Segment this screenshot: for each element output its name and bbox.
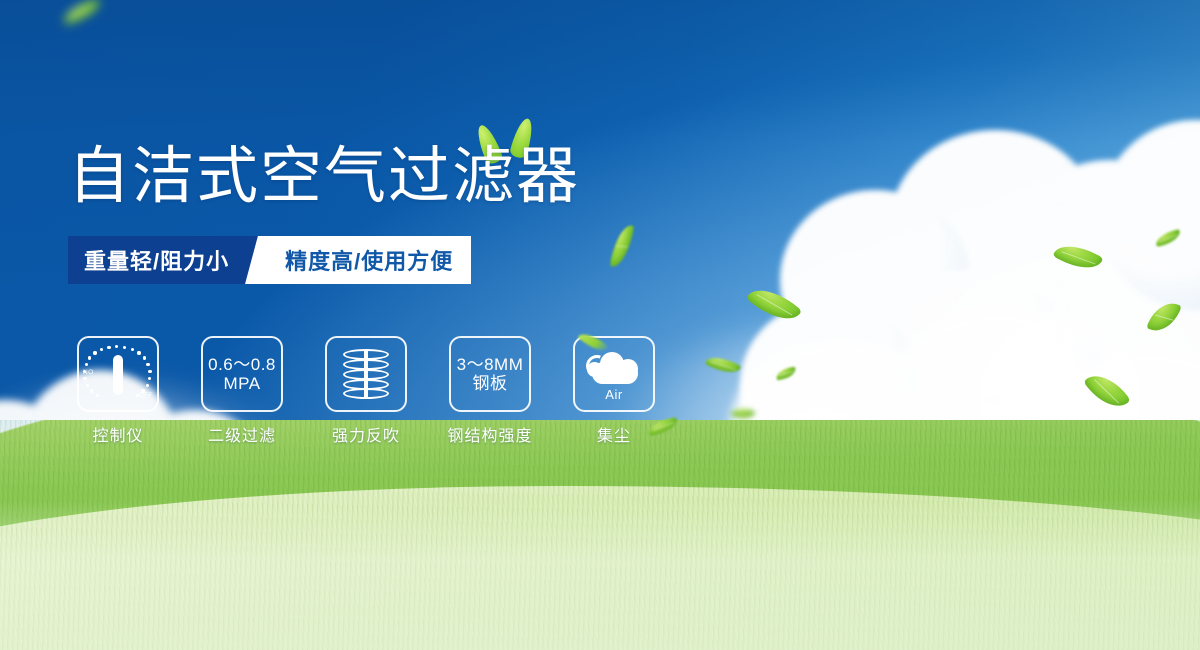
feature-label: 强力反吹 <box>332 422 400 446</box>
coil-icon <box>341 347 391 401</box>
subtitle-bar: 重量轻/阻力小 精度高/使用方便 <box>68 236 471 284</box>
grass-highlight <box>0 500 1200 650</box>
feature-item-steel[interactable]: 3～8MM 钢板 钢结构强度 <box>448 336 532 446</box>
feature-list: NO OFF 控制仪 0.6～0.8 MPA 二级过滤 <box>76 336 656 446</box>
grass-field <box>0 420 1200 650</box>
feature-icon-box: 0.6～0.8 MPA <box>201 336 283 412</box>
gauge-icon: NO OFF <box>84 343 152 405</box>
feature-label: 钢结构强度 <box>448 422 533 446</box>
feature-icon-box <box>325 336 407 412</box>
subtitle-divider <box>243 236 279 284</box>
gauge-needle <box>113 355 123 395</box>
feature-icon-box: NO OFF <box>77 336 159 412</box>
steel-plate-text-icon: 3～8MM 钢板 <box>457 355 524 393</box>
cloud-air-icon: Air <box>584 346 644 402</box>
feature-icon-box: Air <box>573 336 655 412</box>
subtitle-primary: 重量轻/阻力小 <box>68 236 243 284</box>
feature-label: 集尘 <box>597 422 631 446</box>
air-label: Air <box>584 387 644 402</box>
gauge-label-no: NO <box>83 369 94 376</box>
feature-icon-box: 3～8MM 钢板 <box>449 336 531 412</box>
pressure-unit: MPA <box>208 374 276 393</box>
hero-banner: 自洁式空气过滤器 重量轻/阻力小 精度高/使用方便 <box>0 0 1200 650</box>
page-title: 自洁式空气过滤器 <box>68 146 580 208</box>
feature-label: 二级过滤 <box>208 422 276 446</box>
pressure-range: 0.6～0.8 <box>208 355 276 374</box>
feature-item-backblow[interactable]: 强力反吹 <box>324 336 408 446</box>
steel-material: 钢板 <box>457 374 524 393</box>
feature-item-controller[interactable]: NO OFF 控制仪 <box>76 336 160 446</box>
steel-thickness: 3～8MM <box>457 355 524 374</box>
feature-label: 控制仪 <box>92 422 143 446</box>
feature-item-dustcollection[interactable]: Air 集尘 <box>572 336 656 446</box>
feature-item-filtration[interactable]: 0.6～0.8 MPA 二级过滤 <box>200 336 284 446</box>
pressure-text-icon: 0.6～0.8 MPA <box>208 355 276 393</box>
subtitle-secondary: 精度高/使用方便 <box>279 236 471 284</box>
gauge-label-off: OFF <box>139 392 153 399</box>
